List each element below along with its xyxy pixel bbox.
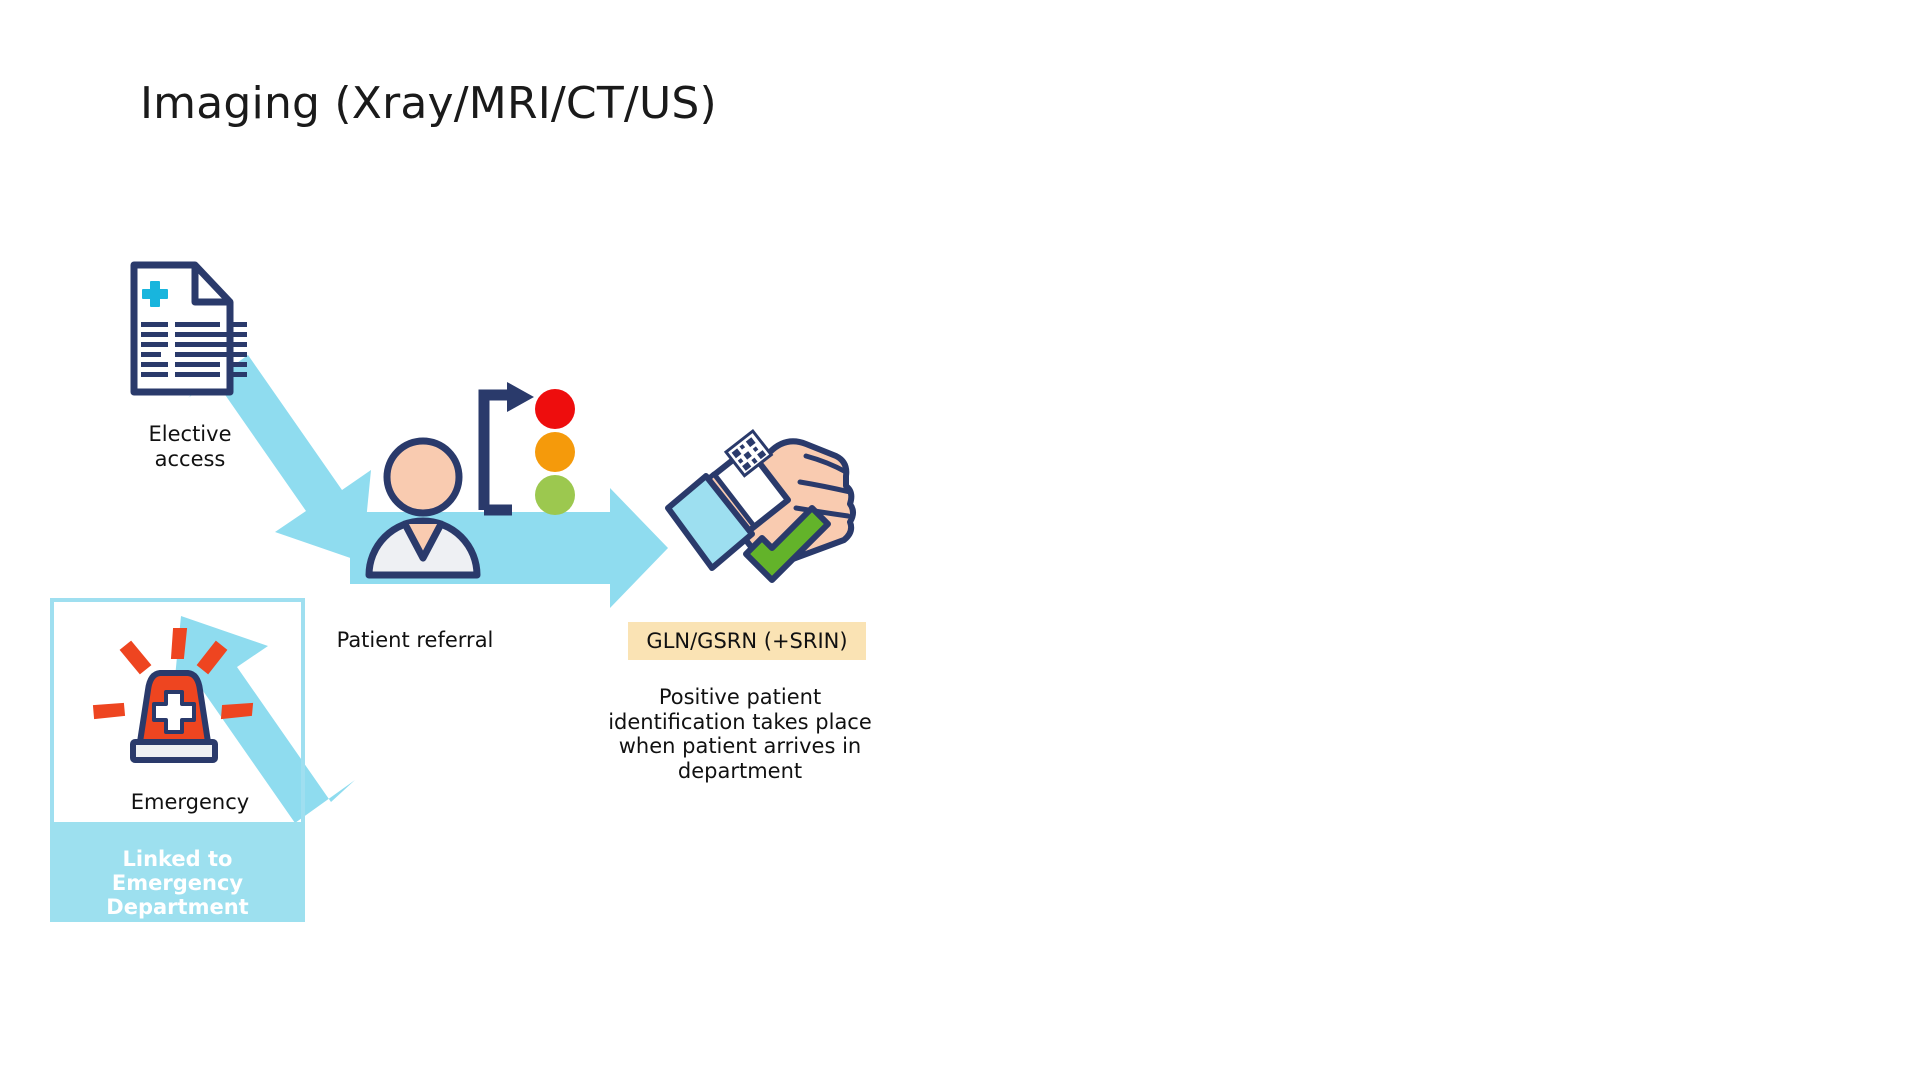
gln-gsrn-badge: GLN/GSRN (+SRIN) (628, 622, 866, 660)
diagram-canvas: Imaging (Xray/MRI/CT/US) (0, 0, 1920, 1080)
traffic-light-red (535, 389, 575, 429)
emergency-access-box (50, 598, 305, 826)
page-title: Imaging (Xray/MRI/CT/US) (140, 78, 717, 129)
positive-identification-caption: Positive patient identification takes pl… (600, 685, 880, 783)
linked-to-emergency-department-banner: Linked to Emergency Department (50, 822, 305, 922)
triage-traffic-light-icon (484, 382, 575, 515)
wristband-hand-check-icon (668, 431, 853, 580)
elective-access-label: Elective access (95, 422, 285, 472)
traffic-light-amber (535, 432, 575, 472)
traffic-light-green (535, 475, 575, 515)
medical-document-icon (134, 265, 247, 392)
arrow-referral-to-identification (350, 488, 668, 608)
patient-person-icon (369, 441, 477, 575)
